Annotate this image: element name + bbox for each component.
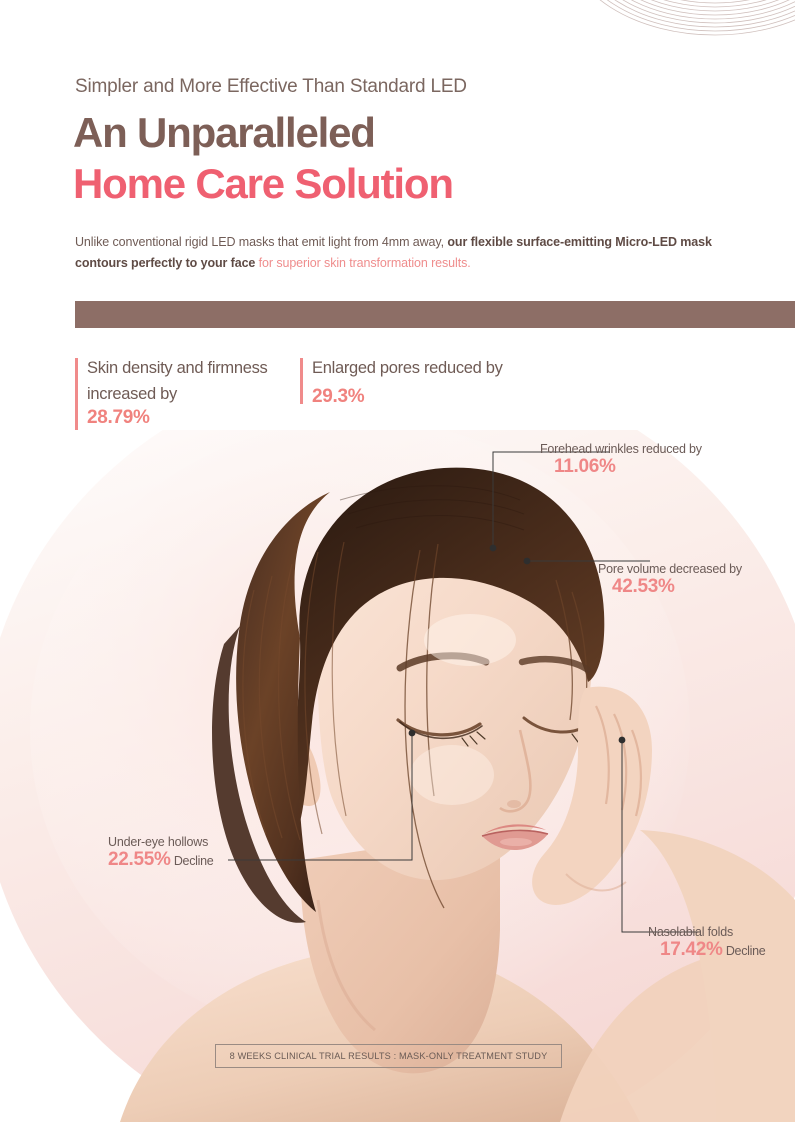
callout-value: 17.42% Decline xyxy=(648,939,765,961)
lede-bold1: our flexible surface-emitting xyxy=(447,235,612,249)
stat-label-text: Enlarged pores reduced by xyxy=(312,359,503,377)
callout-label: Under-eye hollows xyxy=(108,835,213,849)
stat-label: Enlarged pores reduced by 29.3% xyxy=(312,356,542,411)
callout-forehead-wrinkles: Forehead wrinkles reduced by 11.06% xyxy=(540,442,702,478)
callout-nasolabial-folds: Nasolabial folds 17.42% Decline xyxy=(648,925,765,961)
callout-label: Nasolabial folds xyxy=(648,925,765,939)
callout-under-eye-hollows: Under-eye hollows 22.55% Decline xyxy=(108,835,213,871)
callout-value-suffix: Decline xyxy=(723,944,766,958)
brown-divider-bar xyxy=(75,301,795,328)
clinical-trial-caption: 8 WEEKS CLINICAL TRIAL RESULTS : MASK-ON… xyxy=(215,1044,562,1068)
leader-dot-undereye xyxy=(409,730,416,737)
callout-value-number: 22.55% xyxy=(108,849,171,870)
stat-value: 28.79% xyxy=(87,407,277,429)
leader-dot-forehead xyxy=(490,545,497,552)
page-title-line1: An Unparalleled xyxy=(73,112,375,155)
stats-row: Skin density and firmness increased by 2… xyxy=(75,356,635,436)
leader-dot-nasolabial xyxy=(619,737,626,744)
stat-value: 29.3% xyxy=(312,386,364,407)
leader-dot-pore xyxy=(524,558,531,565)
callout-label: Forehead wrinkles reduced by xyxy=(540,442,702,456)
callout-value: 11.06% xyxy=(540,456,702,478)
lede-paragraph: Unlike conventional rigid LED masks that… xyxy=(75,232,735,273)
page-title-line2: Home Care Solution xyxy=(73,163,453,206)
callout-pore-volume: Pore volume decreased by 42.53% xyxy=(598,562,742,598)
eyebrow-text: Simpler and More Effective Than Standard… xyxy=(75,76,467,98)
callout-value-number: 42.53% xyxy=(612,576,675,597)
stat-enlarged-pores: Enlarged pores reduced by 29.3% xyxy=(300,356,542,411)
model-photo-svg xyxy=(0,430,795,1122)
promo-page: Simpler and More Effective Than Standard… xyxy=(0,0,795,1122)
callout-value: 42.53% xyxy=(598,576,742,598)
callout-label: Pore volume decreased by xyxy=(598,562,742,576)
stat-skin-density: Skin density and firmness increased by 2… xyxy=(75,356,277,429)
lede-pink: for superior skin transformation results… xyxy=(255,256,470,270)
arc-decoration-svg xyxy=(565,0,795,80)
callout-value-suffix: Decline xyxy=(171,854,214,868)
arc-decoration xyxy=(565,0,795,80)
clinical-trial-caption-text: 8 WEEKS CLINICAL TRIAL RESULTS : MASK-ON… xyxy=(230,1051,548,1061)
callout-value-number: 17.42% xyxy=(660,939,723,960)
callout-value: 22.55% Decline xyxy=(108,849,213,871)
lede-part1: Unlike conventional rigid LED masks that… xyxy=(75,235,447,249)
model-photo xyxy=(0,430,795,1122)
stat-label: Skin density and firmness increased by xyxy=(87,356,277,407)
callout-value-number: 11.06% xyxy=(554,456,616,477)
